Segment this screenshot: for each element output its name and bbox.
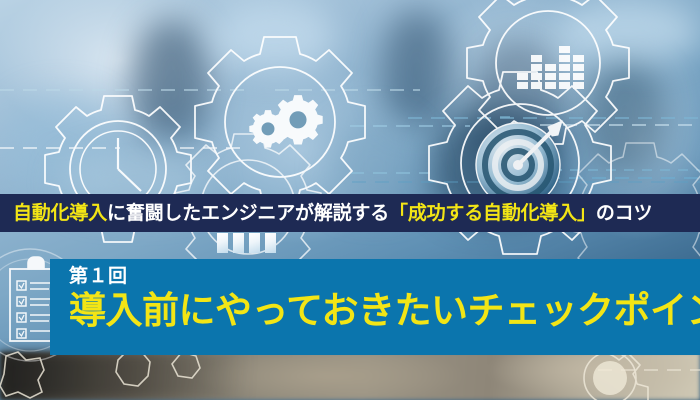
subtitle-band: 自動化導入に奮闘したエンジニアが解説する「成功する自動化導入」のコツ xyxy=(0,194,700,232)
gear-barchart-icon xyxy=(467,0,629,144)
progress-square xyxy=(265,233,276,253)
subtitle-segment-4: のコツ xyxy=(596,203,652,224)
subtitle-segment-3: 「成功する自動化導入」 xyxy=(389,203,596,224)
page-title: 導入前にやっておきたいチェックポイント xyxy=(69,289,700,333)
subtitle-segment-2: に奮闘したエンジニアが解説する xyxy=(107,203,389,224)
episode-label: 第１回 xyxy=(69,267,700,287)
gear-cogs-icon xyxy=(195,37,365,207)
course-banner: 自動化導入に奮闘したエンジニアが解説する「成功する自動化導入」のコツ 第１回 導… xyxy=(0,0,700,400)
progress-squares xyxy=(217,233,276,253)
progress-square xyxy=(233,233,244,253)
title-bar: 第１回 導入前にやっておきたいチェックポイント xyxy=(50,259,700,355)
progress-square xyxy=(217,233,228,253)
subtitle-segment-1: 自動化導入 xyxy=(13,203,107,224)
progress-square xyxy=(249,233,260,253)
subtitle-text: 自動化導入に奮闘したエンジニアが解説する「成功する自動化導入」のコツ xyxy=(0,204,652,223)
